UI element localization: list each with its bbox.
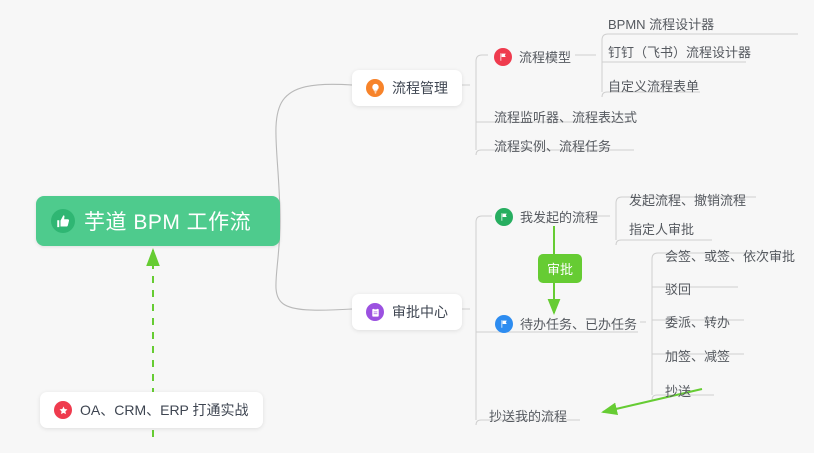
node-label: 驳回: [665, 282, 691, 297]
clipboard-icon: [366, 303, 384, 321]
branch-label: 审批中心: [392, 302, 448, 322]
branch-process-management[interactable]: 流程管理: [352, 70, 462, 106]
node-label: 钉钉（飞书）流程设计器: [608, 45, 751, 60]
node-carbon-copy[interactable]: 抄送: [660, 379, 696, 404]
node-add-remove-sign[interactable]: 加签、减签: [660, 344, 735, 369]
link-pm-to-model: [476, 55, 488, 61]
node-label: 委派、转办: [665, 315, 730, 330]
node-listener-expression[interactable]: 流程监听器、流程表达式: [489, 105, 642, 130]
node-copied-to-me[interactable]: 抄送我的流程: [484, 404, 572, 429]
node-instance-task[interactable]: 流程实例、流程任务: [489, 134, 616, 159]
node-start-cancel-flow[interactable]: 发起流程、撤销流程: [624, 188, 751, 213]
link-root-to-approval-center: [276, 221, 352, 310]
link-ac-to-initiated: [476, 216, 492, 222]
node-label: 自定义流程表单: [608, 79, 699, 94]
node-delegate-transfer[interactable]: 委派、转办: [660, 310, 735, 335]
link-root-to-process-management: [276, 84, 352, 221]
mindmap-canvas: 芋道 BPM 工作流 流程管理 流程模型 BPMN 流程设计器 钉钉（飞书）流程…: [0, 0, 814, 453]
star-icon: [54, 401, 72, 419]
node-assignee-approval[interactable]: 指定人审批: [624, 217, 699, 242]
flag-icon: [495, 208, 513, 226]
node-label: 发起流程、撤销流程: [629, 193, 746, 208]
bottom-node-label: OA、CRM、ERP 打通实战: [80, 400, 249, 420]
node-label: 抄送我的流程: [489, 409, 567, 424]
thumbs-up-icon: [51, 209, 75, 233]
node-process-model[interactable]: 流程模型: [492, 45, 576, 70]
node-label: 流程实例、流程任务: [494, 139, 611, 154]
node-custom-form[interactable]: 自定义流程表单: [603, 74, 704, 99]
node-label: BPMN 流程设计器: [608, 17, 714, 32]
approval-tag: 审批: [538, 254, 582, 283]
node-label: 流程监听器、流程表达式: [494, 110, 637, 125]
root-node[interactable]: 芋道 BPM 工作流: [36, 196, 280, 246]
node-countersign[interactable]: 会签、或签、依次审批: [660, 244, 800, 269]
node-label: 会签、或签、依次审批: [665, 249, 795, 264]
node-label: 流程模型: [519, 47, 571, 66]
node-label: 加签、减签: [665, 349, 730, 364]
bottom-node-integration[interactable]: OA、CRM、ERP 打通实战: [40, 392, 263, 428]
flag-icon: [494, 48, 512, 66]
node-reject[interactable]: 驳回: [660, 277, 696, 302]
flag-icon: [495, 315, 513, 333]
node-dingtalk-designer[interactable]: 钉钉（飞书）流程设计器: [603, 40, 756, 65]
node-bpmn-designer[interactable]: BPMN 流程设计器: [603, 12, 719, 37]
node-label: 待办任务、已办任务: [520, 314, 637, 333]
node-label: 指定人审批: [629, 222, 694, 237]
node-label: 抄送: [665, 384, 691, 399]
branch-label: 流程管理: [392, 78, 448, 98]
lightbulb-icon: [366, 79, 384, 97]
branch-approval-center[interactable]: 审批中心: [352, 294, 462, 330]
approval-tag-label: 审批: [547, 262, 573, 277]
root-label: 芋道 BPM 工作流: [84, 206, 251, 236]
node-label: 我发起的流程: [520, 207, 598, 226]
node-my-initiated[interactable]: 我发起的流程: [493, 205, 603, 230]
node-todo-done-tasks[interactable]: 待办任务、已办任务: [493, 312, 642, 337]
